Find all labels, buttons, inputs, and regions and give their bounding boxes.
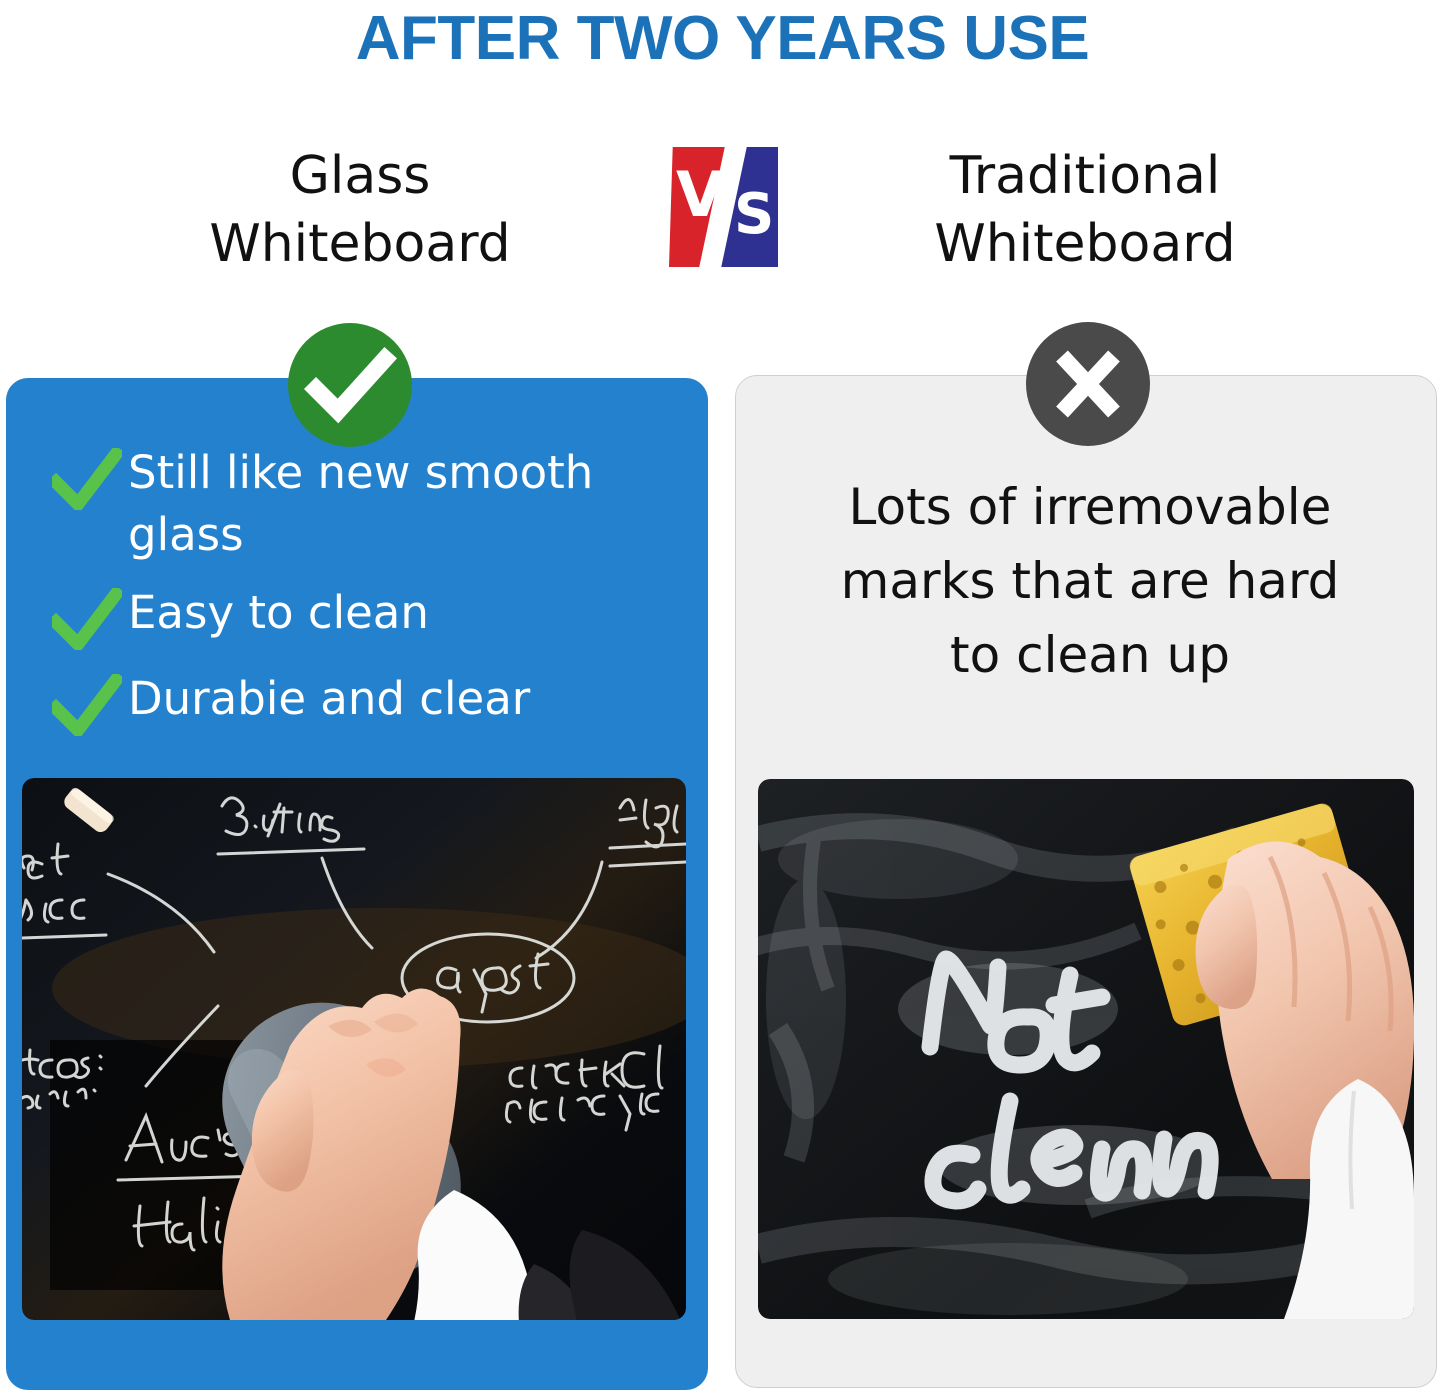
glass-whiteboard-feature-list: Still like new smooth glass Easy to clea… bbox=[46, 442, 686, 754]
description-line: marks that are hard bbox=[760, 544, 1420, 618]
feature-label: Easy to clean bbox=[128, 582, 686, 644]
description-line: to clean up bbox=[760, 618, 1420, 692]
vs-badge-letter-v: V bbox=[676, 164, 724, 226]
description-line: Lots of irremovable bbox=[760, 470, 1420, 544]
feature-row: Easy to clean bbox=[46, 582, 686, 652]
traditional-whiteboard-photo: Hand with a yellow sponge wiping a black… bbox=[758, 779, 1414, 1319]
left-column-title: Glass Whiteboard bbox=[10, 142, 710, 278]
comparison-infographic: AFTER TWO YEARS USE Glass Whiteboard V S… bbox=[0, 0, 1445, 1397]
right-column-title: Traditional Whiteboard bbox=[735, 142, 1435, 278]
feature-label: Still like new smooth glass bbox=[128, 442, 686, 566]
right-column-title-line-1: Traditional bbox=[735, 142, 1435, 210]
check-icon bbox=[288, 323, 412, 447]
left-column-title-line-2: Whiteboard bbox=[10, 210, 710, 278]
check-mark-icon bbox=[46, 448, 128, 512]
right-column-title-line-2: Whiteboard bbox=[735, 210, 1435, 278]
left-column-title-line-1: Glass bbox=[10, 142, 710, 210]
check-mark-icon bbox=[46, 674, 128, 738]
traditional-whiteboard-description: Lots of irremovable marks that are hard … bbox=[760, 470, 1420, 692]
page-title: AFTER TWO YEARS USE bbox=[0, 2, 1445, 76]
glass-whiteboard-photo: Hand with gray eraser wiping a dark glas… bbox=[22, 778, 686, 1320]
check-mark-icon bbox=[46, 588, 128, 652]
feature-row: Durabie and clear bbox=[46, 668, 686, 738]
feature-label: Durabie and clear bbox=[128, 668, 686, 730]
cross-icon bbox=[1026, 322, 1150, 446]
feature-row: Still like new smooth glass bbox=[46, 442, 686, 566]
